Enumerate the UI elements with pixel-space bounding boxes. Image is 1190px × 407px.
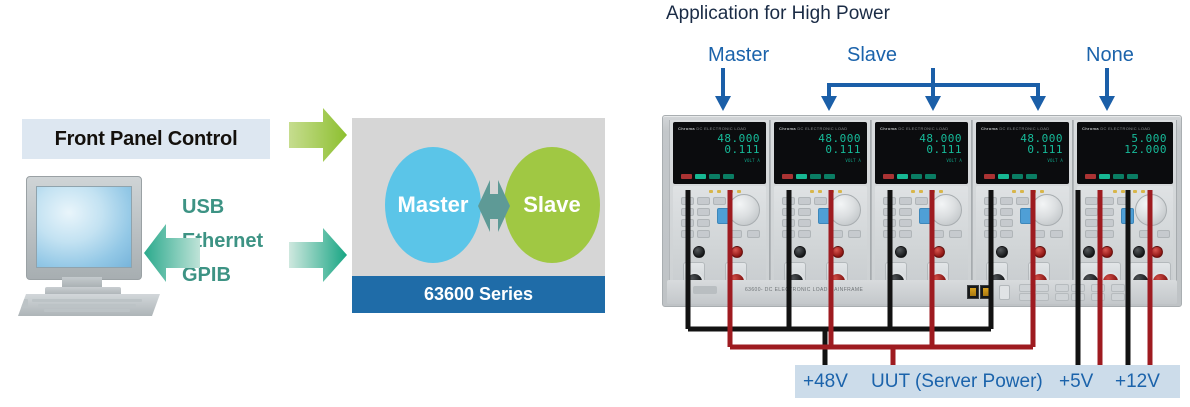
role-label-master: Master <box>708 44 769 67</box>
master-node: Master <box>385 147 481 263</box>
monitor-screen <box>36 186 132 268</box>
high-power-application-diagram: Application for High Power Master Slave … <box>650 0 1190 407</box>
green-right-arrow-icon <box>287 106 349 164</box>
page-title: Application for High Power <box>666 3 890 25</box>
role-label-slave: Slave <box>847 44 897 67</box>
monitor-case <box>26 176 142 280</box>
role-label-none: None <box>1086 44 1134 67</box>
role-pointer-arrows <box>690 66 1150 116</box>
link-arrow-shape <box>477 176 511 236</box>
voltage-label-12v: +12V <box>1115 371 1160 393</box>
voltage-label-5v: +5V <box>1059 371 1093 393</box>
protocol-usb: USB <box>182 190 312 224</box>
slave-node: Slave <box>504 147 600 263</box>
voltage-label-48v: +48V <box>803 371 848 393</box>
series-body: Master Slave <box>352 118 605 276</box>
teal-left-arrow-icon <box>142 222 202 284</box>
master-node-label: Master <box>398 192 469 218</box>
wiring-harness <box>650 110 1190 370</box>
series-footer-label: 63600 Series <box>424 284 533 305</box>
voltage-label-uut: UUT (Server Power) <box>871 371 1043 393</box>
slave-node-label: Slave <box>523 192 581 218</box>
series-footer: 63600 Series <box>352 276 605 313</box>
teal-right-arrow-icon <box>287 226 349 284</box>
front-panel-control-box: Front Panel Control <box>22 119 270 159</box>
keyboard-icon <box>18 294 160 316</box>
front-panel-control-label: Front Panel Control <box>55 128 238 151</box>
voltage-label-band: +48V UUT (Server Power) +5V +12V <box>795 365 1180 398</box>
instrument-series-box: Master Slave 63600 Series <box>352 118 605 313</box>
front-panel-control-diagram: Front Panel Control USB Ethernet GPIB <box>0 0 650 407</box>
